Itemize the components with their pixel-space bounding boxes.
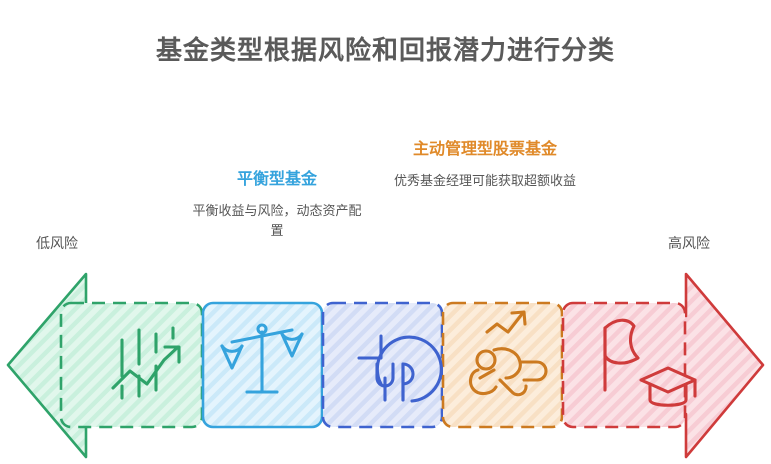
low-risk-label: 低风险	[36, 233, 78, 253]
callout-active-title: 主动管理型股票基金	[390, 140, 580, 161]
callout-balanced-fund: 平衡型基金 平衡收益与风险，动态资产配置	[188, 170, 366, 241]
high-risk-label: 高风险	[668, 233, 710, 253]
infographic-page: 基金类型根据风险和回报潜力进行分类 平衡型基金 平衡收益与风险，动态资产配置 主…	[0, 0, 771, 464]
risk-spectrum-arrow	[0, 268, 771, 464]
callout-active-description: 优秀基金经理可能获取超额收益	[390, 171, 580, 191]
segment-3-block[interactable]	[323, 303, 442, 427]
segment-1-block[interactable]	[61, 303, 202, 427]
callout-balanced-title: 平衡型基金	[188, 170, 366, 191]
page-title: 基金类型根据风险和回报潜力进行分类	[0, 30, 771, 67]
callout-active-equity-fund: 主动管理型股票基金 优秀基金经理可能获取超额收益	[390, 140, 580, 191]
callout-balanced-description: 平衡收益与风险，动态资产配置	[188, 201, 366, 241]
